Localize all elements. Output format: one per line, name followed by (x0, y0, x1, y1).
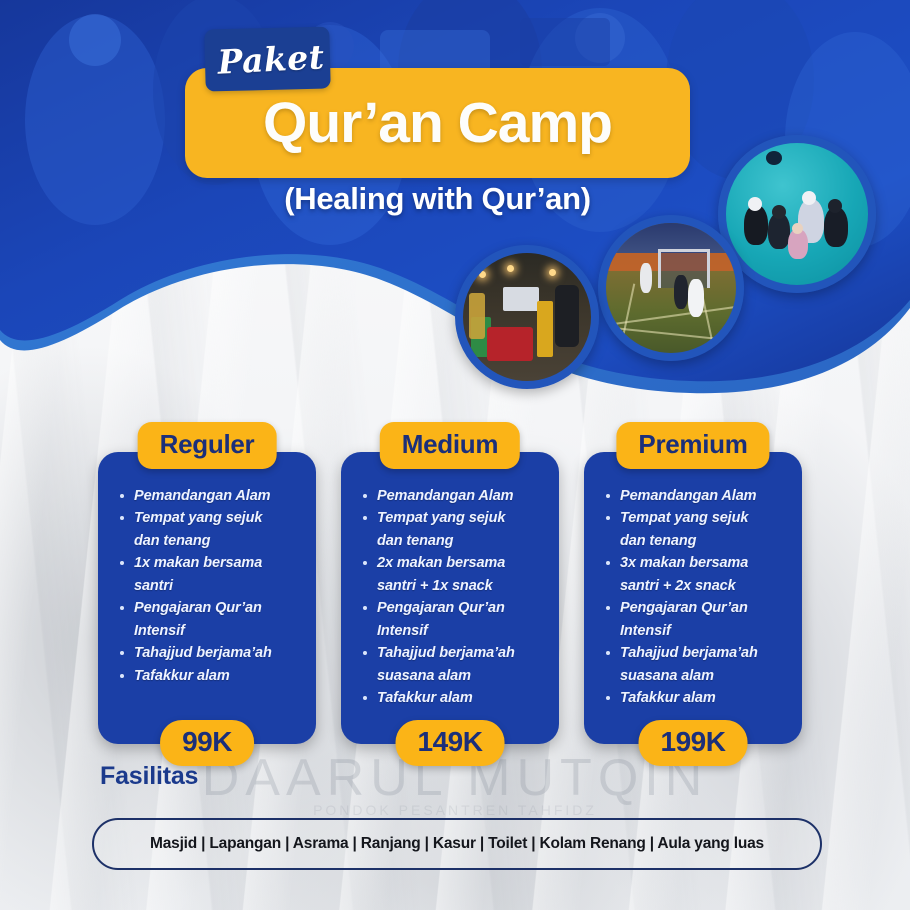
feature-item: Tempat yang sejuk (361, 508, 543, 529)
package-features-reguler: Pemandangan Alam Tempat yang sejuk dan t… (112, 486, 302, 687)
package-card-medium[interactable]: Medium Pemandangan Alam Tempat yang seju… (341, 452, 559, 745)
package-card-body: Medium Pemandangan Alam Tempat yang seju… (341, 452, 559, 744)
feature-item-cont: santri + 2x snack (604, 576, 786, 597)
feature-item-cont: suasana alam (361, 666, 543, 687)
feature-item-cont: dan tenang (361, 531, 543, 552)
feature-item: Pengajaran Qur’an (361, 598, 543, 619)
package-features-premium: Pemandangan Alam Tempat yang sejuk dan t… (598, 486, 788, 710)
facilities-heading: Fasilitas (100, 762, 198, 791)
feature-item-cont: suasana alam (604, 666, 786, 687)
facilities-list-text: Masjid | Lapangan | Asrama | Ranjang | K… (150, 835, 764, 853)
feature-item: Tafakkur alam (361, 688, 543, 709)
poster-canvas: DAARUL MUTQIN PONDOK PESANTREN TAHFIDZ (0, 0, 910, 910)
package-card-premium[interactable]: Premium Pemandangan Alam Tempat yang sej… (584, 452, 802, 745)
package-features-medium: Pemandangan Alam Tempat yang sejuk dan t… (355, 486, 545, 710)
feature-item: Pengajaran Qur’an (604, 598, 786, 619)
feature-item: Tahajjud berjama’ah (604, 643, 786, 664)
feature-item: Pemandangan Alam (118, 486, 300, 507)
feature-item-cont: dan tenang (604, 531, 786, 552)
feature-item-cont: Intensif (118, 621, 300, 642)
price-badge-medium: 149K (396, 720, 505, 766)
price-badge-premium: 199K (639, 720, 748, 766)
feature-item-cont: Intensif (361, 621, 543, 642)
package-card-body: Premium Pemandangan Alam Tempat yang sej… (584, 452, 802, 744)
package-title-reguler: Reguler (138, 422, 277, 469)
price-badge-reguler: 99K (160, 720, 254, 766)
feature-item: Tempat yang sejuk (118, 508, 300, 529)
feature-item: Pemandangan Alam (604, 486, 786, 507)
feature-item: Tempat yang sejuk (604, 508, 786, 529)
feature-item-cont: santri + 1x snack (361, 576, 543, 597)
package-title-medium: Medium (380, 422, 520, 469)
feature-item: Pemandangan Alam (361, 486, 543, 507)
feature-item: Pengajaran Qur’an (118, 598, 300, 619)
feature-item-cont: dan tenang (118, 531, 300, 552)
feature-item: Tafakkur alam (118, 666, 300, 687)
feature-item-cont: santri (118, 576, 300, 597)
feature-item: Tafakkur alam (604, 688, 786, 709)
feature-item: Tahajjud berjama’ah (361, 643, 543, 664)
feature-item-cont: Intensif (604, 621, 786, 642)
feature-item: Tahajjud berjama’ah (118, 643, 300, 664)
feature-item: 2x makan bersama (361, 553, 543, 574)
feature-item: 1x makan bersama (118, 553, 300, 574)
feature-item: 3x makan bersama (604, 553, 786, 574)
package-card-body: Reguler Pemandangan Alam Tempat yang sej… (98, 452, 316, 744)
facilities-pill: Masjid | Lapangan | Asrama | Ranjang | K… (92, 818, 822, 870)
package-card-reguler[interactable]: Reguler Pemandangan Alam Tempat yang sej… (98, 452, 316, 745)
package-title-premium: Premium (616, 422, 769, 469)
